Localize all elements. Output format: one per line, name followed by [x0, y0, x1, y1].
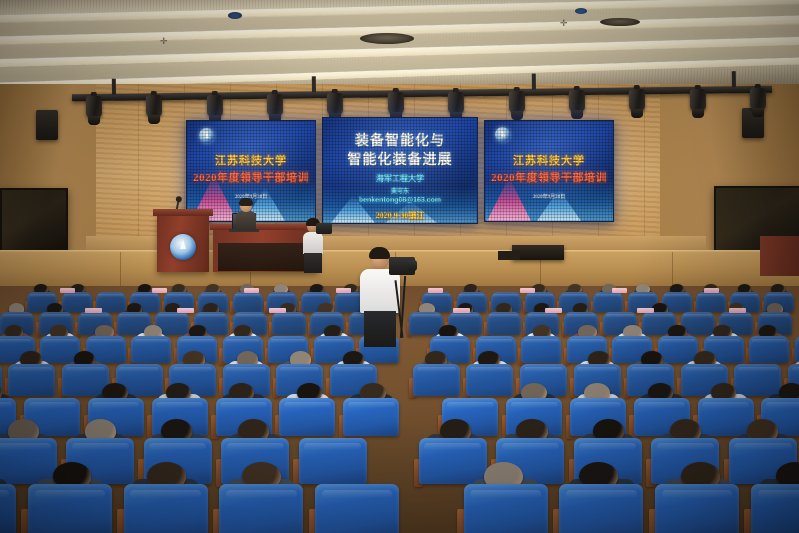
auditorium-seat[interactable] [655, 484, 739, 533]
stage-light [748, 88, 768, 122]
ceiling-sensor [228, 12, 242, 19]
auditorium-seat[interactable] [559, 484, 643, 533]
seat-name-card [729, 308, 746, 313]
auditorium-seat[interactable] [464, 484, 548, 533]
ceiling: ✛ ✛ [0, 0, 799, 96]
auditorium-seat[interactable] [28, 484, 112, 533]
led-screen-center: 装备智能化与 智能化装备进展 海军工程大学 黄可东 benkentong08@1… [322, 117, 478, 224]
seat-name-card [453, 308, 470, 313]
podium-top [153, 209, 213, 216]
seat-name-card [244, 288, 259, 293]
auditorium-seat[interactable] [734, 364, 781, 396]
led-pixel-grid [323, 118, 477, 223]
auditorium-seat[interactable] [419, 438, 487, 484]
auditorium-seat[interactable] [466, 364, 513, 396]
stage-light [687, 89, 707, 123]
university-emblem-icon [170, 234, 196, 260]
auditorium-seat[interactable] [219, 484, 303, 533]
operator-trousers [364, 311, 396, 347]
seat-name-card [269, 308, 286, 313]
camera-operator-in-aisle [358, 250, 404, 346]
seat-name-card [60, 288, 75, 293]
auditorium-seat[interactable] [751, 484, 799, 533]
presenter-at-desk [236, 200, 256, 230]
presenter-torso [236, 211, 256, 231]
led-pixel-grid [485, 121, 613, 221]
auditorium-seat[interactable] [272, 312, 306, 335]
seat-name-card [336, 288, 351, 293]
screen-glare [2, 190, 66, 252]
auditorium-seat[interactable] [409, 312, 443, 335]
stage-equipment-box [498, 251, 520, 260]
operator-white-tshirt [360, 269, 400, 313]
seat-name-card [428, 288, 443, 293]
seat-name-card [152, 288, 167, 293]
ceiling-sensor [575, 8, 587, 14]
seat-name-card [177, 308, 194, 313]
auditorium-seat[interactable] [124, 484, 208, 533]
stage-light [144, 95, 164, 129]
operator-shirt [303, 232, 323, 254]
auditorium-seat[interactable] [343, 398, 399, 436]
wall-display-left [0, 188, 68, 254]
sprinkler-icon: ✛ [560, 20, 567, 27]
camera-operator-on-stage [300, 220, 326, 272]
auditorium-seat[interactable] [658, 336, 698, 363]
podium [157, 214, 209, 272]
seat-name-card [545, 308, 562, 313]
auditorium-seat[interactable] [593, 292, 623, 312]
video-camera-on-stage [316, 223, 332, 234]
seat-name-card [85, 308, 102, 313]
seat-name-card [704, 288, 719, 293]
camera-lens-hood-icon [408, 260, 417, 271]
wall-speaker-left [36, 110, 58, 140]
side-table-right [760, 236, 799, 276]
auditorium-seat[interactable] [795, 336, 799, 363]
auditorium-seat[interactable] [696, 292, 726, 312]
auditorium-scene: ✛ ✛ 江苏科技大学 2020年度领导干部培训 2020年9月30日 [0, 0, 799, 533]
ceiling-vent [600, 18, 640, 26]
auditorium-seat[interactable] [749, 336, 789, 363]
auditorium-seat[interactable] [279, 398, 335, 436]
auditorium-seat[interactable] [315, 484, 399, 533]
auditorium-seat[interactable] [698, 398, 754, 436]
stage-light [627, 89, 647, 123]
seat-name-card [520, 288, 535, 293]
sprinkler-icon: ✛ [160, 38, 167, 45]
operator-trousers [304, 253, 322, 273]
auditorium-seat[interactable] [131, 336, 171, 363]
seat-name-card [612, 288, 627, 293]
auditorium-seat[interactable] [0, 484, 16, 533]
auditorium-seat[interactable] [0, 438, 57, 484]
auditorium-seat[interactable] [521, 336, 561, 363]
auditorium-seat[interactable] [299, 438, 367, 484]
presenter-hair [239, 198, 253, 206]
stage-light [84, 96, 104, 130]
ceiling-vent [360, 33, 414, 44]
auditorium-seat[interactable] [8, 364, 55, 396]
auditorium-seat[interactable] [233, 292, 263, 312]
seat-name-card [637, 308, 654, 313]
led-screen-right: 江苏科技大学 2020年度领导干部培训 2020年9月30日 [484, 120, 614, 222]
operator-hair [369, 247, 390, 259]
auditorium-seat[interactable] [487, 312, 521, 335]
auditorium-seat[interactable] [413, 364, 460, 396]
